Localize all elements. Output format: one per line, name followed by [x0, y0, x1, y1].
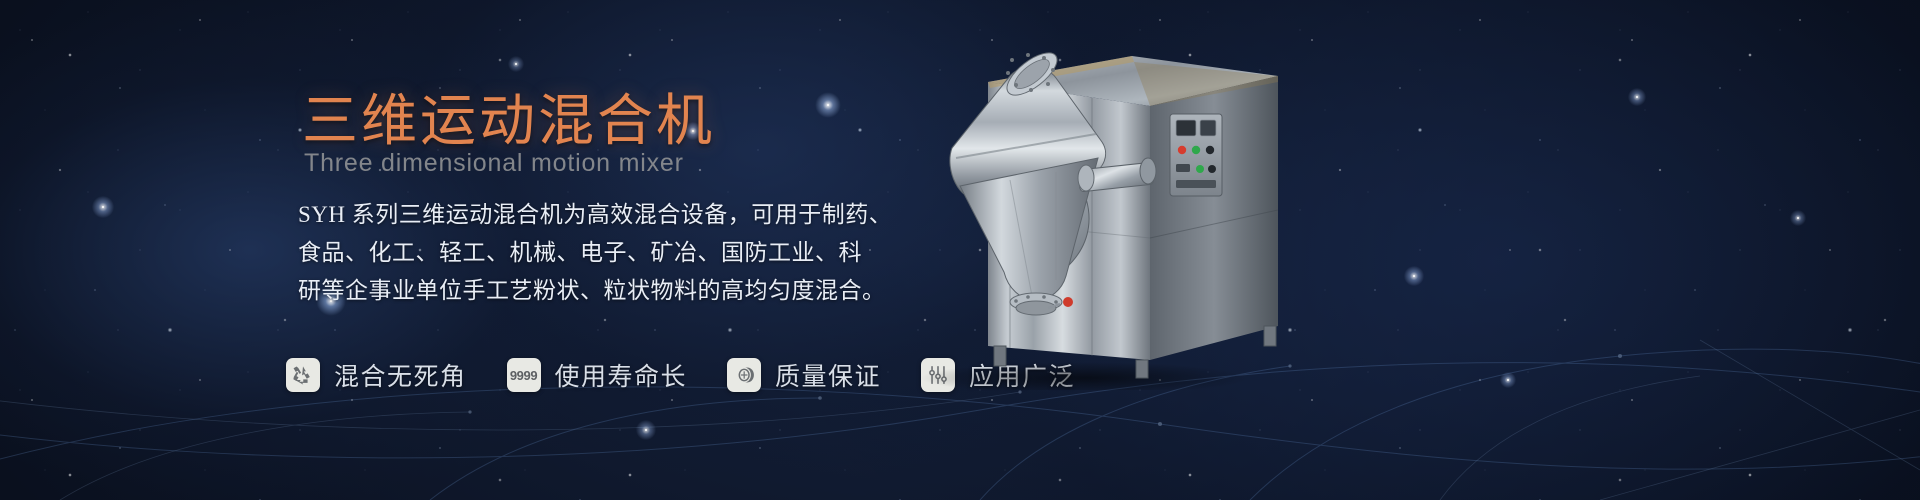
lifetime-9999-icon: 9999	[507, 358, 541, 392]
feature-item-no-dead-angle[interactable]: 混合无死角	[286, 357, 467, 393]
product-hero-banner: 三维运动混合机 Three dimensional motion mixer S…	[0, 0, 1920, 500]
three-dimensional-motion-mixer-photo	[860, 30, 1300, 390]
description-line: 食品、化工、轻工、机械、电子、矿冶、国防工业、科	[298, 234, 838, 272]
product-description: SYH 系列三维运动混合机为高效混合设备，可用于制药、 食品、化工、轻工、机械、…	[298, 196, 838, 310]
glow-star	[92, 196, 114, 218]
feature-label: 混合无死角	[334, 357, 467, 393]
description-line: SYH 系列三维运动混合机为高效混合设备，可用于制药、	[298, 196, 838, 234]
page-title: 三维运动混合机	[302, 76, 715, 157]
indicator-red	[1178, 146, 1186, 154]
discharge-valve-handle	[1063, 297, 1073, 307]
coins-quality-icon	[727, 358, 761, 392]
glow-star	[1404, 266, 1424, 286]
feature-item-long-lifetime[interactable]: 9999 使用寿命长	[507, 357, 688, 393]
indicator-green	[1192, 146, 1200, 154]
control-panel	[1170, 114, 1222, 196]
indicator-black	[1206, 146, 1214, 154]
glow-star	[1500, 372, 1516, 388]
page-subtitle-english: Three dimensional motion mixer	[304, 149, 684, 178]
recycle-icon	[286, 358, 320, 392]
description-line: 研等企事业单位手工艺粉状、粒状物料的高均匀度混合。	[298, 272, 838, 310]
feature-label: 使用寿命长	[555, 357, 688, 393]
glow-star	[1790, 210, 1806, 226]
feature-item-quality-guarantee[interactable]: 质量保证	[727, 357, 881, 393]
glow-star	[1628, 88, 1646, 106]
